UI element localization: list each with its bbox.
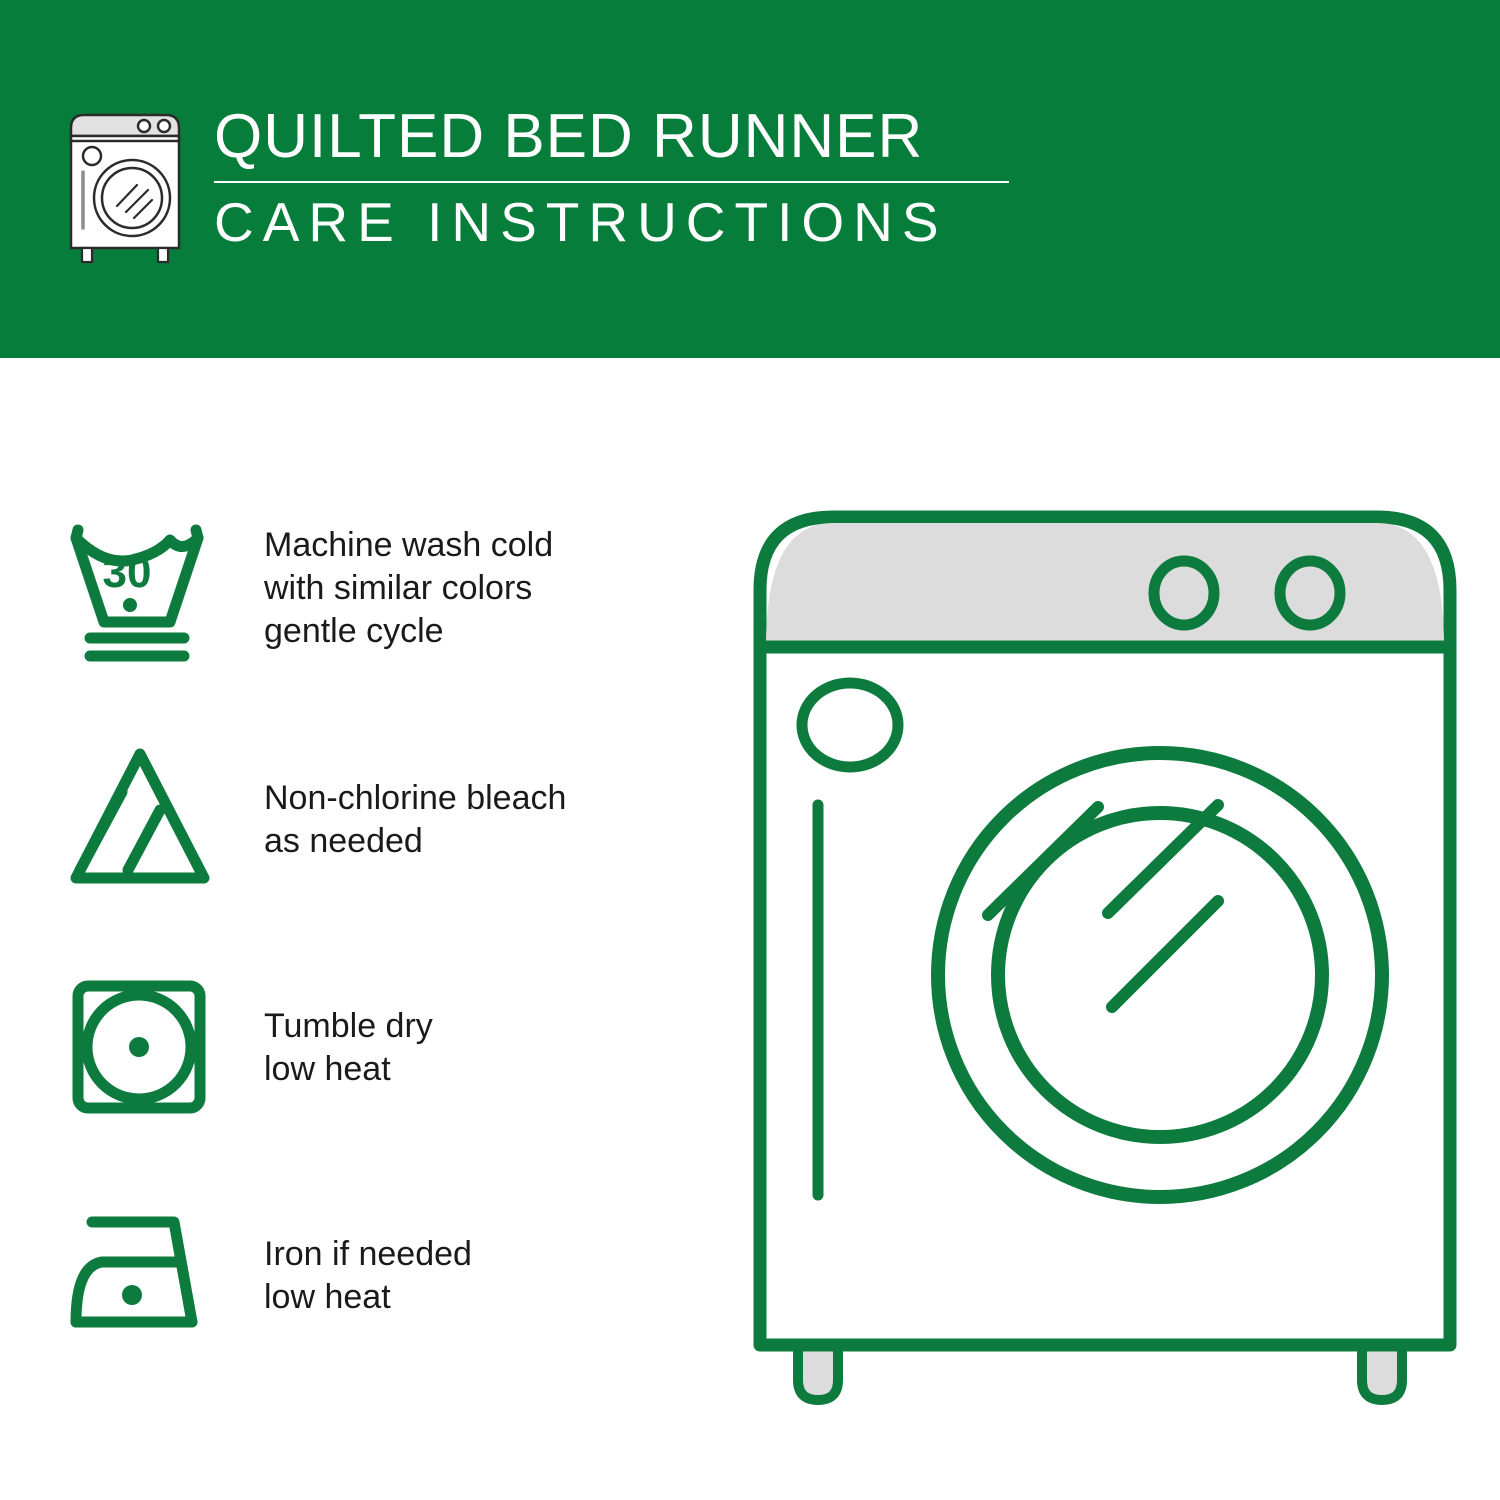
wash-tub-30-gentle-icon: 30 (62, 508, 242, 668)
non-chlorine-bleach-triangle-icon (62, 740, 242, 900)
page-subtitle: CARE INSTRUCTIONS (214, 190, 1014, 254)
washing-machine-icon (64, 106, 194, 266)
front-load-washing-machine-illustration (740, 495, 1470, 1445)
control-knob-right (1280, 561, 1340, 625)
care-label: Non-chlorine bleach as needed (264, 777, 566, 863)
wash-temperature-value: 30 (103, 548, 152, 597)
care-label: Machine wash cold with similar colors ge… (264, 524, 553, 653)
care-row: Iron if needed low heat (0, 1196, 700, 1356)
care-row: Non-chlorine bleach as needed (0, 740, 700, 900)
care-instructions-infographic: QUILTED BED RUNNER CARE INSTRUCTIONS (0, 0, 1500, 1500)
machine-button (802, 683, 898, 767)
header-banner: QUILTED BED RUNNER CARE INSTRUCTIONS (0, 0, 1500, 358)
page-title: QUILTED BED RUNNER (214, 102, 1014, 172)
control-knob-left (1154, 561, 1214, 625)
care-label: Tumble dry low heat (264, 1005, 433, 1091)
title-divider (214, 181, 1009, 183)
tumble-dry-low-heat-icon (62, 968, 242, 1128)
care-symbol-list: 30 Machine wash cold with similar colors… (0, 358, 700, 1500)
care-row: Tumble dry low heat (0, 968, 700, 1128)
care-label: Iron if needed low heat (264, 1233, 472, 1319)
header-text-block: QUILTED BED RUNNER CARE INSTRUCTIONS (214, 102, 1014, 254)
care-row: 30 Machine wash cold with similar colors… (0, 508, 700, 668)
iron-low-heat-icon (62, 1196, 242, 1356)
